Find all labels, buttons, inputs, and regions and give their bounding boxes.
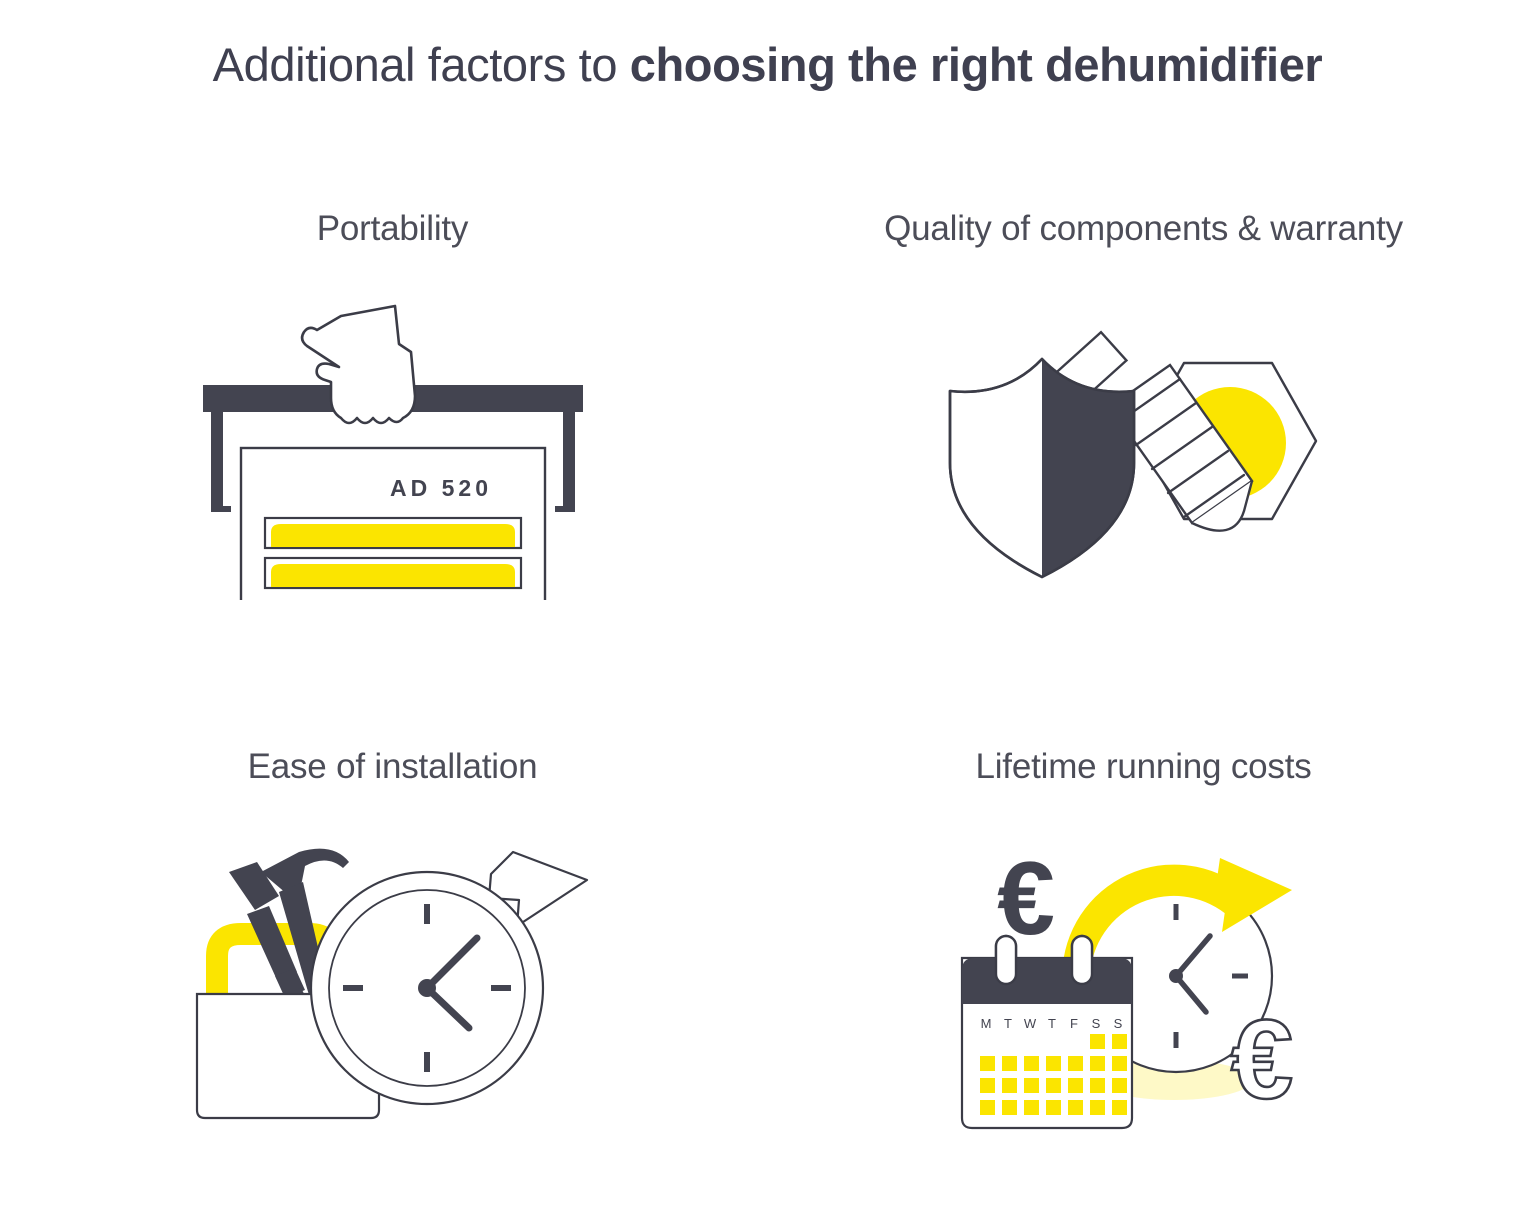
- calendar-euro-clock-icon: € € M T: [944, 828, 1344, 1148]
- device-model-label: AD 520: [390, 475, 492, 501]
- weekday-header: S: [1113, 1016, 1122, 1031]
- factor-card-grid: Portability AD 520: [42, 155, 1494, 1195]
- card-title-quality: Quality of components & warranty: [793, 209, 1494, 249]
- card-title-portability: Portability: [42, 209, 743, 249]
- card-title-running-costs: Lifetime running costs: [793, 747, 1494, 787]
- factor-card-installation[interactable]: Ease of installation: [42, 693, 743, 1187]
- illustration-installation: [42, 798, 743, 1178]
- weekday-header: W: [1023, 1016, 1036, 1031]
- infographic-page: Additional factors to choosing the right…: [0, 0, 1535, 1226]
- weekday-header: F: [1070, 1016, 1078, 1031]
- page-title: Additional factors to choosing the right…: [0, 34, 1535, 96]
- card-title-installation: Ease of installation: [42, 747, 743, 787]
- shield-shape: [950, 359, 1134, 577]
- factor-card-quality[interactable]: Quality of components & warranty: [793, 155, 1494, 649]
- hand-carrying-dehumidifier-icon: AD 520: [183, 300, 603, 600]
- page-title-bold: choosing the right dehumidifier: [630, 38, 1323, 91]
- toolbox-hammer-clock-icon: [183, 838, 603, 1138]
- weekday-header: T: [1048, 1016, 1056, 1031]
- weekday-header: S: [1091, 1016, 1100, 1031]
- shield-screw-bolt-nut-icon: [934, 295, 1354, 605]
- weekday-header: T: [1004, 1016, 1012, 1031]
- calendar-header-band: [962, 958, 1132, 1004]
- weekday-header: M: [980, 1016, 991, 1031]
- euro-symbol-outline: €: [1230, 997, 1292, 1122]
- illustration-quality: [793, 260, 1494, 640]
- factor-card-running-costs[interactable]: Lifetime running costs: [793, 693, 1494, 1187]
- illustration-running-costs: € € M T: [793, 798, 1494, 1178]
- page-title-light: Additional factors to: [213, 38, 630, 91]
- illustration-portability: AD 520: [42, 260, 743, 640]
- factor-card-portability[interactable]: Portability AD 520: [42, 155, 743, 649]
